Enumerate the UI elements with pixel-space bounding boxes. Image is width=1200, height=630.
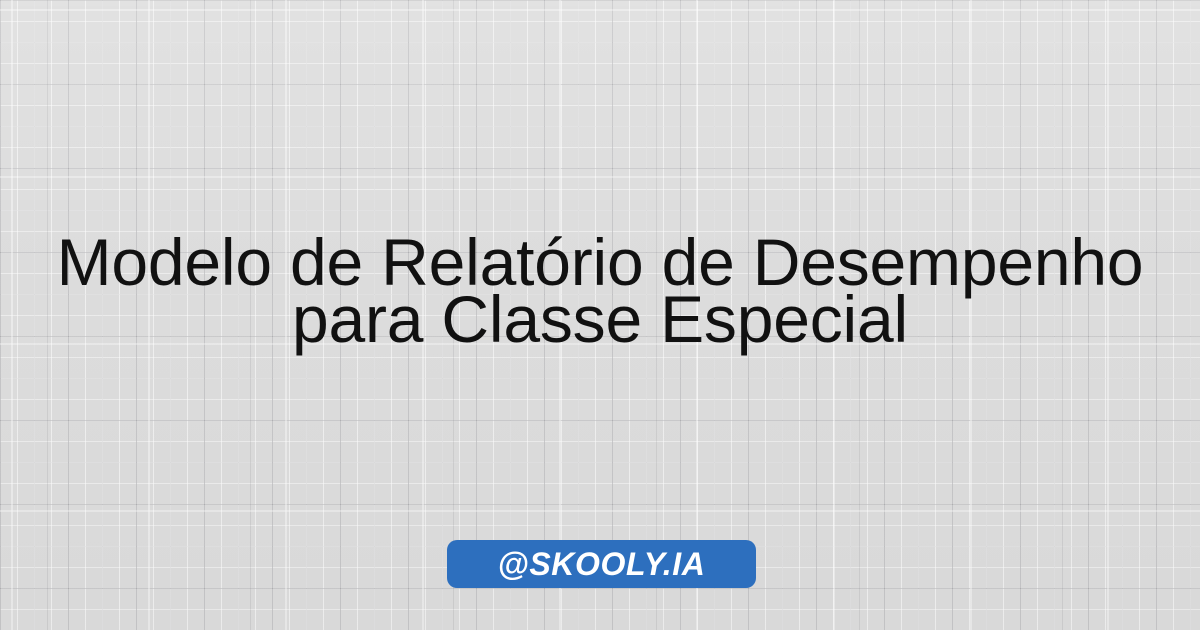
brand-handle-badge: @SKOOLY.IA — [447, 540, 756, 588]
social-card: Modelo de Relatório de Desempenho para C… — [0, 0, 1200, 630]
brand-handle-label: @SKOOLY.IA — [498, 548, 706, 580]
card-content: Modelo de Relatório de Desempenho para C… — [0, 0, 1200, 630]
page-title: Modelo de Relatório de Desempenho para C… — [0, 234, 1200, 348]
